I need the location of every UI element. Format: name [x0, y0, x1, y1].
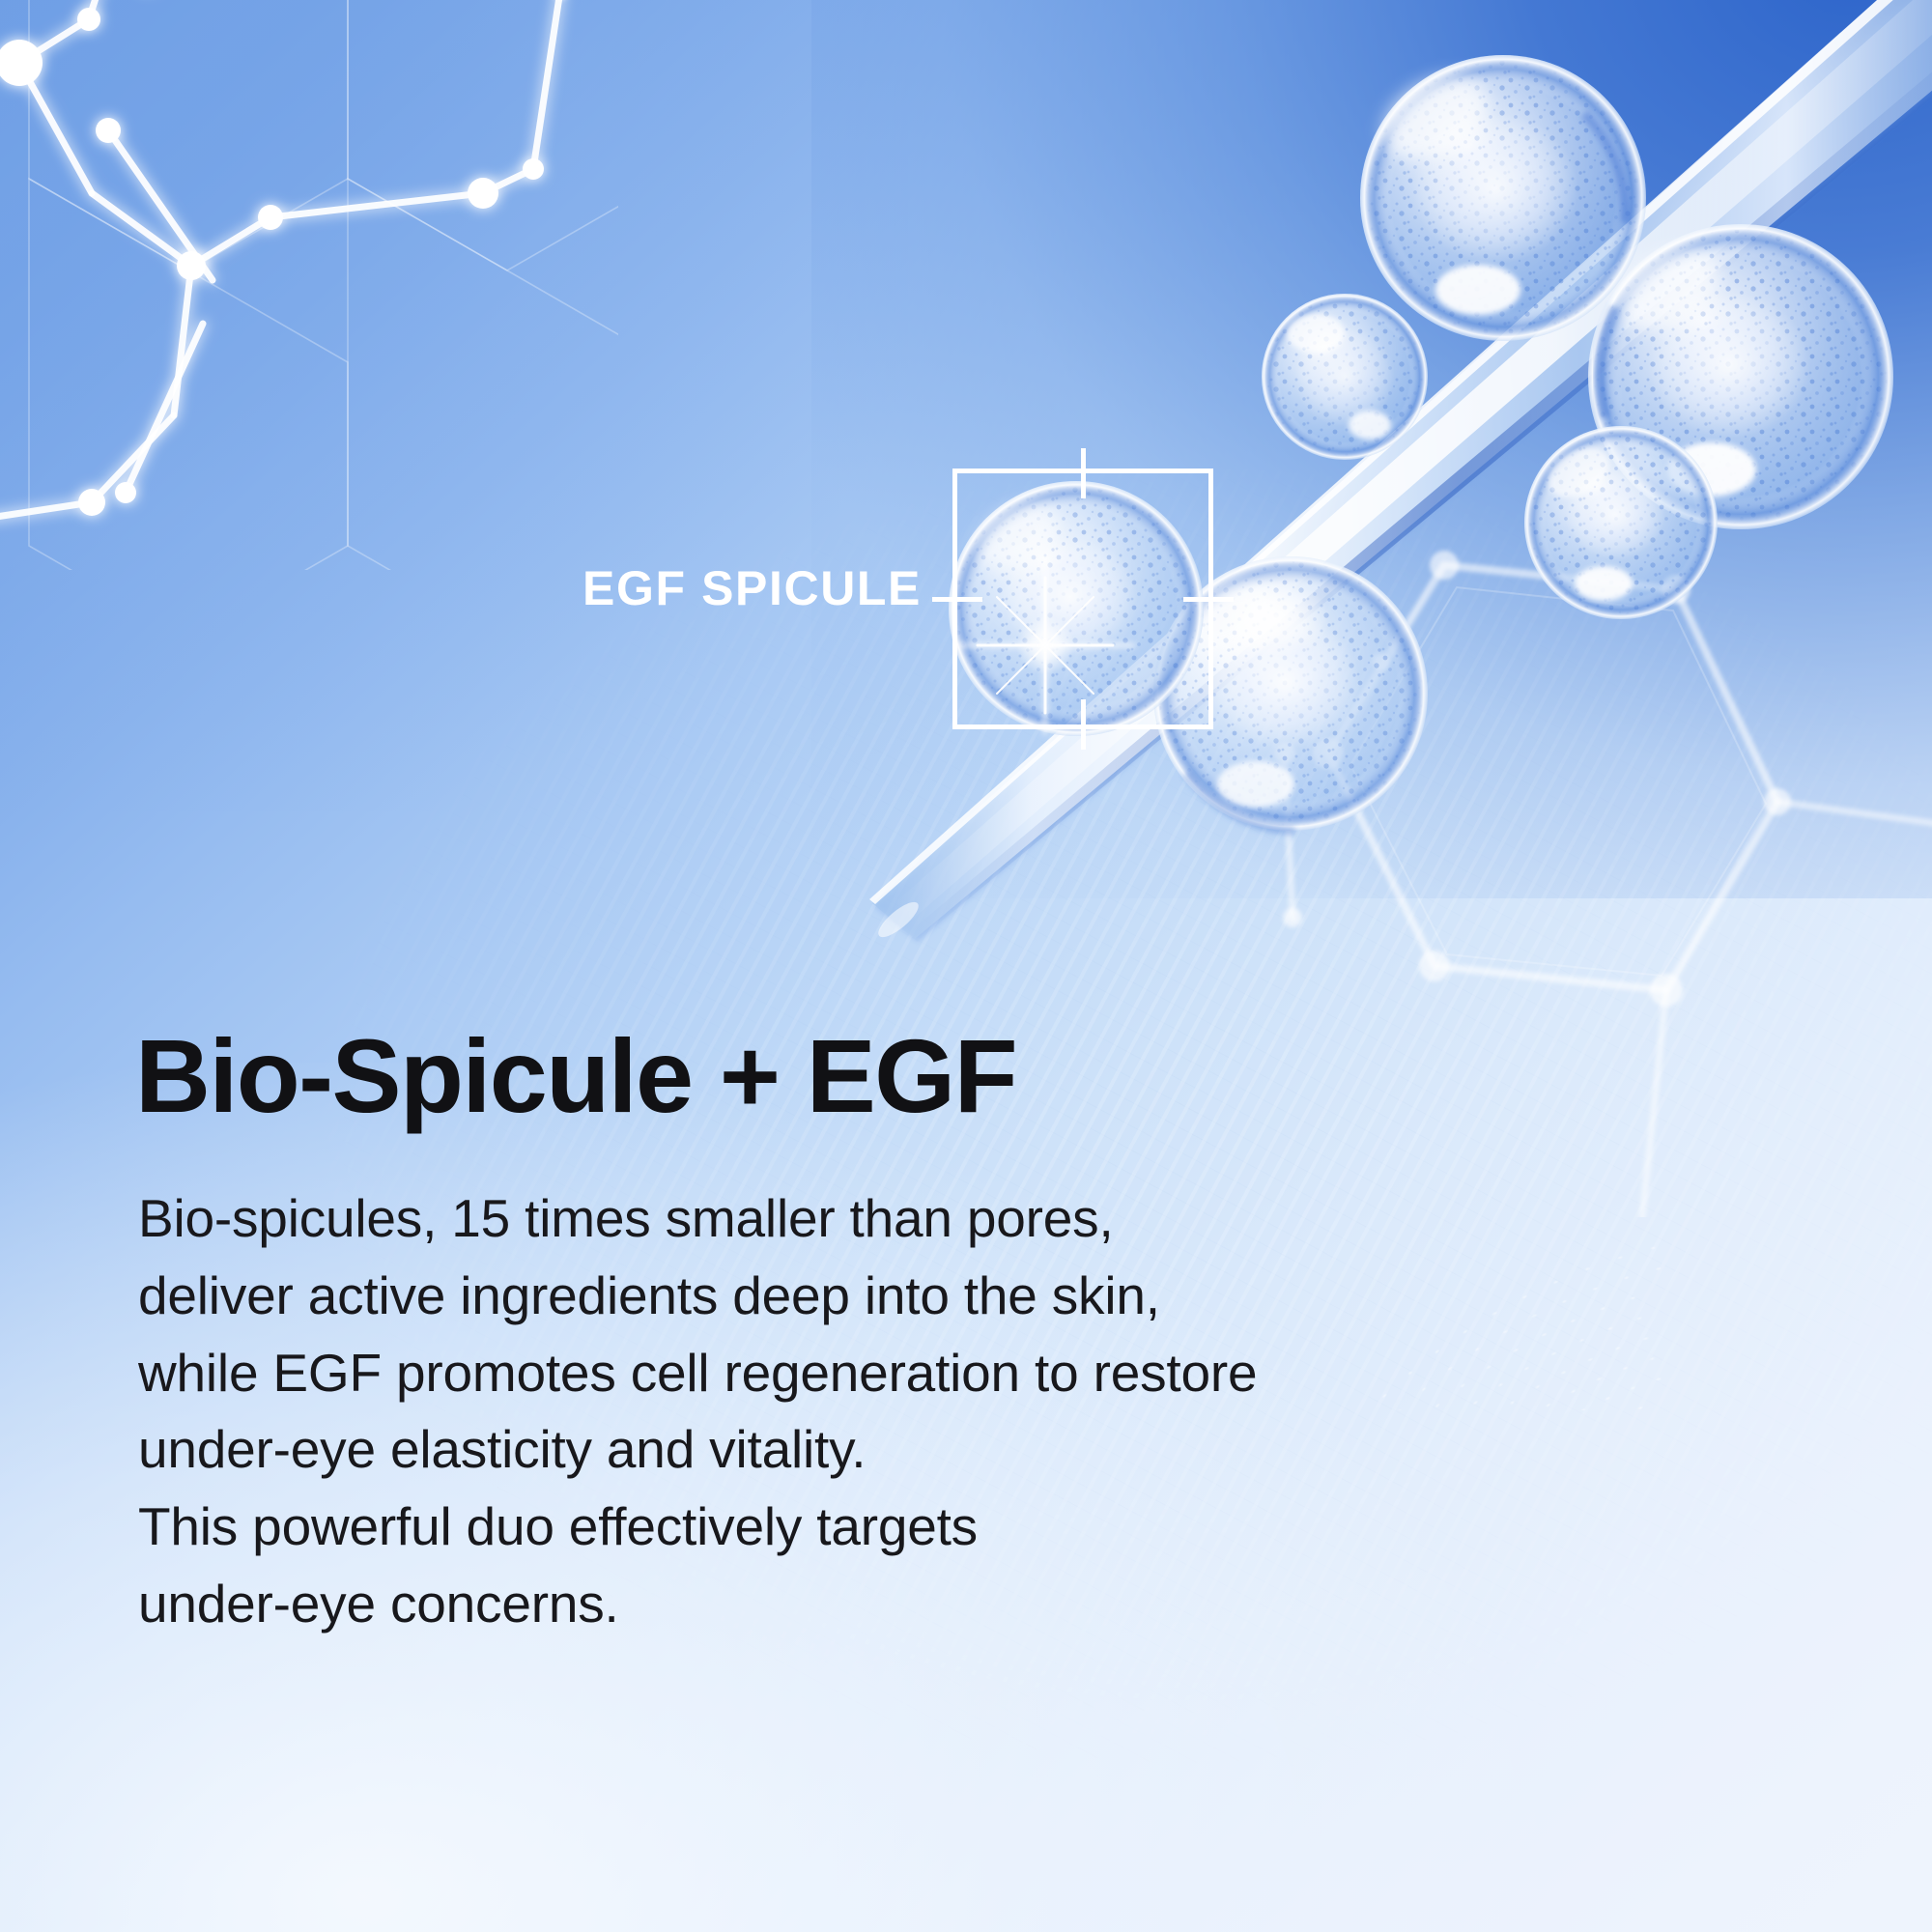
tick-right-icon: [1183, 597, 1234, 602]
tick-top-icon: [1081, 448, 1086, 498]
body-copy: Bio-spicules, 15 times smaller than pore…: [138, 1180, 1257, 1643]
body-line-3: while EGF promotes cell regeneration to …: [138, 1335, 1257, 1412]
ingredient-card: EGF SPICULE Bio-Spicule + EGF Bio-spicul…: [0, 0, 1932, 1932]
body-line-2: deliver active ingredients deep into the…: [138, 1258, 1257, 1335]
body-line-5: This powerful duo effectively targets: [138, 1489, 1257, 1566]
tick-left-icon: [932, 597, 982, 602]
body-line-4: under-eye elasticity and vitality.: [138, 1411, 1257, 1489]
tick-bottom-icon: [1081, 699, 1086, 750]
page-title: Bio-Spicule + EGF: [135, 1021, 1016, 1131]
callout-label: EGF SPICULE: [468, 564, 922, 612]
focus-frame-icon: [952, 469, 1213, 729]
body-line-1: Bio-spicules, 15 times smaller than pore…: [138, 1180, 1257, 1258]
body-line-6: under-eye concerns.: [138, 1566, 1257, 1643]
